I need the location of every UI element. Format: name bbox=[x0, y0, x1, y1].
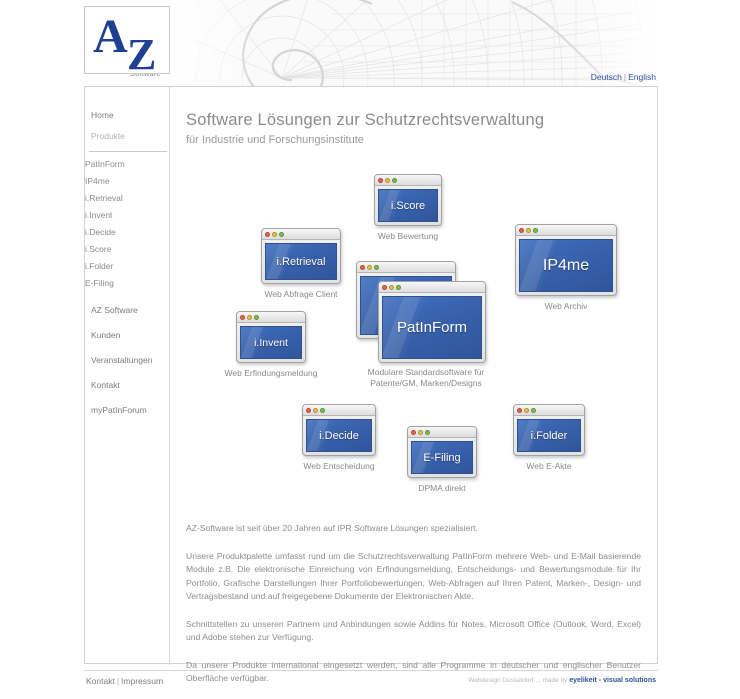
minimize-icon[interactable] bbox=[385, 178, 390, 183]
maximize-icon[interactable] bbox=[531, 408, 536, 413]
sidebar-item-produkte[interactable]: Produkte bbox=[91, 126, 169, 147]
maximize-icon[interactable] bbox=[320, 408, 325, 413]
close-icon[interactable] bbox=[265, 232, 270, 237]
window-screen: i.Retrieval bbox=[265, 243, 337, 280]
window-iscore[interactable]: i.Score bbox=[374, 174, 442, 226]
window-screen: i.Folder bbox=[517, 419, 581, 452]
product-name-ifolder: i.Folder bbox=[531, 430, 568, 442]
main-content: Software Lösungen zur Schutzrechtsverwal… bbox=[170, 87, 659, 665]
window-titlebar bbox=[262, 229, 340, 240]
sidebar-item-home[interactable]: Home bbox=[91, 105, 169, 126]
footer-divider bbox=[84, 670, 658, 671]
traffic-light-dots bbox=[519, 228, 538, 233]
minimize-icon[interactable] bbox=[418, 430, 423, 435]
maximize-icon[interactable] bbox=[374, 265, 379, 270]
maximize-icon[interactable] bbox=[279, 232, 284, 237]
sidebar-item-kunden[interactable]: Kunden bbox=[91, 323, 169, 348]
window-titlebar bbox=[375, 175, 441, 186]
page-subtitle: für Industrie und Forschungsinstitute bbox=[186, 134, 641, 146]
traffic-light-dots bbox=[411, 430, 430, 435]
minimize-icon[interactable] bbox=[526, 228, 531, 233]
product-name-idecide: i.Decide bbox=[319, 430, 359, 442]
product-iscore[interactable]: i.Score Web Bewertung bbox=[358, 174, 458, 242]
product-ifolder[interactable]: i.Folder Web E-Akte bbox=[496, 404, 602, 472]
sidebar-item-veranstaltungen[interactable]: Veranstaltungen bbox=[91, 348, 169, 373]
close-icon[interactable] bbox=[306, 408, 311, 413]
close-icon[interactable] bbox=[517, 408, 522, 413]
product-caption-patinform: Modulare Standardsoftware für Patente/GM… bbox=[356, 367, 496, 389]
site-header: A Z Software Deutsch|English bbox=[84, 0, 658, 86]
window-titlebar bbox=[514, 405, 584, 416]
close-icon[interactable] bbox=[240, 315, 245, 320]
footer-link-impressum[interactable]: Impressum bbox=[121, 676, 163, 686]
product-iinvent[interactable]: i.Invent Web Erfindungsmeldung bbox=[212, 311, 330, 379]
maximize-icon[interactable] bbox=[254, 315, 259, 320]
minimize-icon[interactable] bbox=[247, 315, 252, 320]
traffic-light-dots bbox=[382, 285, 401, 290]
minimize-icon[interactable] bbox=[272, 232, 277, 237]
footer-credit: Webdesign Düsseldorf ... made by eyelike… bbox=[468, 677, 656, 684]
window-patinform-front[interactable]: PatInForm bbox=[378, 281, 486, 363]
site-footer: Kontakt|Impressum Webdesign Düsseldorf .… bbox=[84, 670, 658, 690]
sidebar-bottom-group: AZ Software Kunden Veranstaltungen Konta… bbox=[85, 298, 169, 423]
sidebar-item-idecide[interactable]: i.Decide bbox=[85, 224, 163, 241]
window-ifolder[interactable]: i.Folder bbox=[513, 404, 585, 456]
sidebar-item-ifolder[interactable]: i.Folder bbox=[85, 258, 163, 275]
window-ip4me[interactable]: IP4me bbox=[515, 224, 617, 296]
window-screen: i.Decide bbox=[306, 419, 372, 452]
close-icon[interactable] bbox=[411, 430, 416, 435]
page-title: Software Lösungen zur Schutzrechtsverwal… bbox=[186, 109, 641, 131]
footer-links: Kontakt|Impressum bbox=[86, 676, 163, 686]
minimize-icon[interactable] bbox=[524, 408, 529, 413]
site-logo[interactable]: A Z bbox=[84, 6, 170, 74]
maximize-icon[interactable] bbox=[533, 228, 538, 233]
window-titlebar bbox=[516, 225, 616, 236]
maximize-icon[interactable] bbox=[425, 430, 430, 435]
product-idecide[interactable]: i.Decide Web Entscheidung bbox=[284, 404, 394, 472]
minimize-icon[interactable] bbox=[389, 285, 394, 290]
minimize-icon[interactable] bbox=[367, 265, 372, 270]
product-caption-ifolder: Web E-Akte bbox=[496, 461, 602, 472]
window-efiling[interactable]: E-Filing bbox=[407, 426, 477, 478]
sidebar-top-group: Home Produkte bbox=[85, 105, 169, 147]
paragraph-3: Schnittstellen zu unseren Partnern und A… bbox=[186, 618, 641, 645]
sidebar-rule bbox=[89, 151, 167, 152]
window-iinvent[interactable]: i.Invent bbox=[236, 311, 306, 363]
product-caption-iretrieval: Web Abfrage Client bbox=[246, 289, 356, 300]
product-caption-iinvent: Web Erfindungsmeldung bbox=[212, 368, 330, 379]
logo-letter-a: A bbox=[93, 9, 127, 64]
window-titlebar bbox=[303, 405, 375, 416]
window-stack-patinform[interactable]: PatInForm bbox=[356, 261, 496, 365]
maximize-icon[interactable] bbox=[396, 285, 401, 290]
page-root: A Z Software Deutsch|English Home Produk… bbox=[0, 0, 740, 699]
window-iretrieval[interactable]: i.Retrieval bbox=[261, 228, 341, 284]
product-caption-efiling: DPMA direkt bbox=[392, 483, 492, 494]
product-caption-iscore: Web Bewertung bbox=[358, 231, 458, 242]
product-name-iinvent: i.Invent bbox=[254, 337, 288, 349]
window-screen: i.Score bbox=[378, 189, 438, 222]
product-efiling[interactable]: E-Filing DPMA direkt bbox=[392, 426, 492, 494]
product-name-patinform: PatInForm bbox=[397, 319, 467, 336]
footer-link-kontakt[interactable]: Kontakt bbox=[86, 676, 115, 686]
technical-grid-illustration bbox=[172, 0, 658, 86]
paragraph-1: AZ-Software ist seit über 20 Jahren auf … bbox=[186, 522, 641, 536]
close-icon[interactable] bbox=[360, 265, 365, 270]
product-name-efiling: E-Filing bbox=[423, 452, 460, 464]
traffic-light-dots bbox=[517, 408, 536, 413]
sidebar-item-ip4me[interactable]: IP4me bbox=[85, 173, 163, 190]
product-name-iretrieval: i.Retrieval bbox=[277, 256, 326, 268]
close-icon[interactable] bbox=[378, 178, 383, 183]
window-titlebar bbox=[357, 262, 455, 273]
product-caption-ip4me: Web Archiv bbox=[506, 301, 626, 312]
language-link-deutsch[interactable]: Deutsch bbox=[591, 72, 622, 82]
content-frame: Home Produkte PatInForm IP4me i.Retrieva… bbox=[84, 86, 658, 664]
window-titlebar bbox=[408, 427, 476, 438]
window-screen: E-Filing bbox=[411, 441, 473, 474]
sidebar-item-az-software[interactable]: AZ Software bbox=[91, 298, 169, 323]
sidebar-item-efiling[interactable]: E-Filing bbox=[85, 275, 163, 292]
product-diagram: i.Score Web Bewertung bbox=[186, 156, 656, 516]
logo-letter-z: Z bbox=[127, 29, 156, 80]
sidebar-products-group: PatInForm IP4me i.Retrieval i.Invent i.D… bbox=[85, 156, 169, 292]
window-screen: PatInForm bbox=[382, 296, 482, 359]
footer-credit-prefix: Webdesign Düsseldorf ... made by bbox=[468, 677, 569, 684]
product-iretrieval[interactable]: i.Retrieval Web Abfrage Client bbox=[246, 228, 356, 300]
sidebar-item-kontakt[interactable]: Kontakt bbox=[91, 373, 169, 398]
sidebar-item-iscore[interactable]: i.Score bbox=[85, 241, 163, 258]
traffic-light-dots bbox=[378, 178, 397, 183]
traffic-light-dots bbox=[306, 408, 325, 413]
paragraph-2: Unsere Produktpalette umfasst rund um di… bbox=[186, 550, 641, 604]
language-switcher: Deutsch|English bbox=[591, 72, 656, 82]
window-screen: i.Invent bbox=[240, 326, 302, 359]
window-titlebar bbox=[237, 312, 305, 323]
product-patinform[interactable]: PatInForm Modulare Standardsoftware für … bbox=[356, 261, 496, 389]
sidebar-nav: Home Produkte PatInForm IP4me i.Retrieva… bbox=[85, 105, 169, 423]
sidebar-item-patinform[interactable]: PatInForm bbox=[85, 156, 163, 173]
product-ip4me[interactable]: IP4me Web Archiv bbox=[506, 224, 626, 312]
product-caption-idecide: Web Entscheidung bbox=[284, 461, 394, 472]
window-screen: IP4me bbox=[519, 239, 613, 292]
product-name-iscore: i.Score bbox=[391, 200, 425, 212]
intro-text: AZ-Software ist seit über 20 Jahren auf … bbox=[186, 522, 641, 686]
header-decorative-graphic bbox=[172, 0, 658, 86]
traffic-light-dots bbox=[360, 265, 379, 270]
close-icon[interactable] bbox=[519, 228, 524, 233]
window-idecide[interactable]: i.Decide bbox=[302, 404, 376, 456]
minimize-icon[interactable] bbox=[313, 408, 318, 413]
product-name-ip4me: IP4me bbox=[543, 257, 589, 275]
close-icon[interactable] bbox=[382, 285, 387, 290]
traffic-light-dots bbox=[265, 232, 284, 237]
sidebar-item-iretrieval[interactable]: i.Retrieval bbox=[85, 190, 163, 207]
sidebar-item-iinvent[interactable]: i.Invent bbox=[85, 207, 163, 224]
window-titlebar bbox=[379, 282, 485, 293]
footer-credit-brand[interactable]: eyelikeit - visual solutions bbox=[569, 677, 656, 684]
language-link-english[interactable]: English bbox=[628, 72, 656, 82]
maximize-icon[interactable] bbox=[392, 178, 397, 183]
traffic-light-dots bbox=[240, 315, 259, 320]
sidebar-item-mypatinforum[interactable]: myPatInForum bbox=[91, 398, 169, 423]
